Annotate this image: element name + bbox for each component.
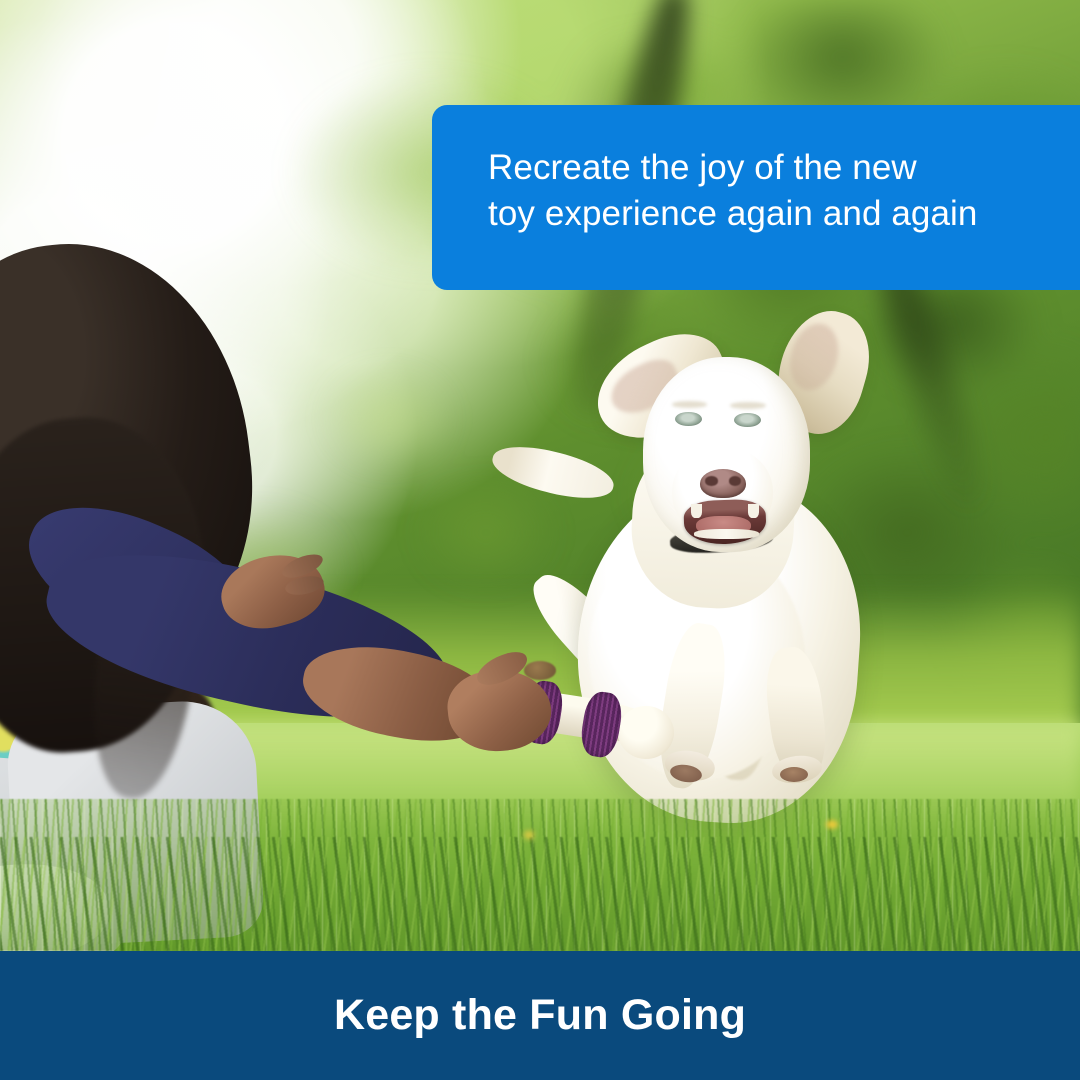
dandelion-bokeh-secondary	[524, 831, 534, 839]
banner-headline: Keep the Fun Going	[334, 991, 746, 1040]
hero-photo: Recreate the joy of the new toy experien…	[0, 0, 1080, 951]
bottom-banner: Keep the Fun Going	[0, 951, 1080, 1080]
grass-blades-front	[0, 837, 1080, 951]
callout-box: Recreate the joy of the new toy experien…	[432, 105, 1080, 290]
dandelion-bokeh	[826, 820, 838, 829]
toy-knob-right	[618, 706, 674, 759]
callout-text: Recreate the joy of the new toy experien…	[488, 145, 1046, 236]
poster-root: Recreate the joy of the new toy experien…	[0, 0, 1080, 1080]
